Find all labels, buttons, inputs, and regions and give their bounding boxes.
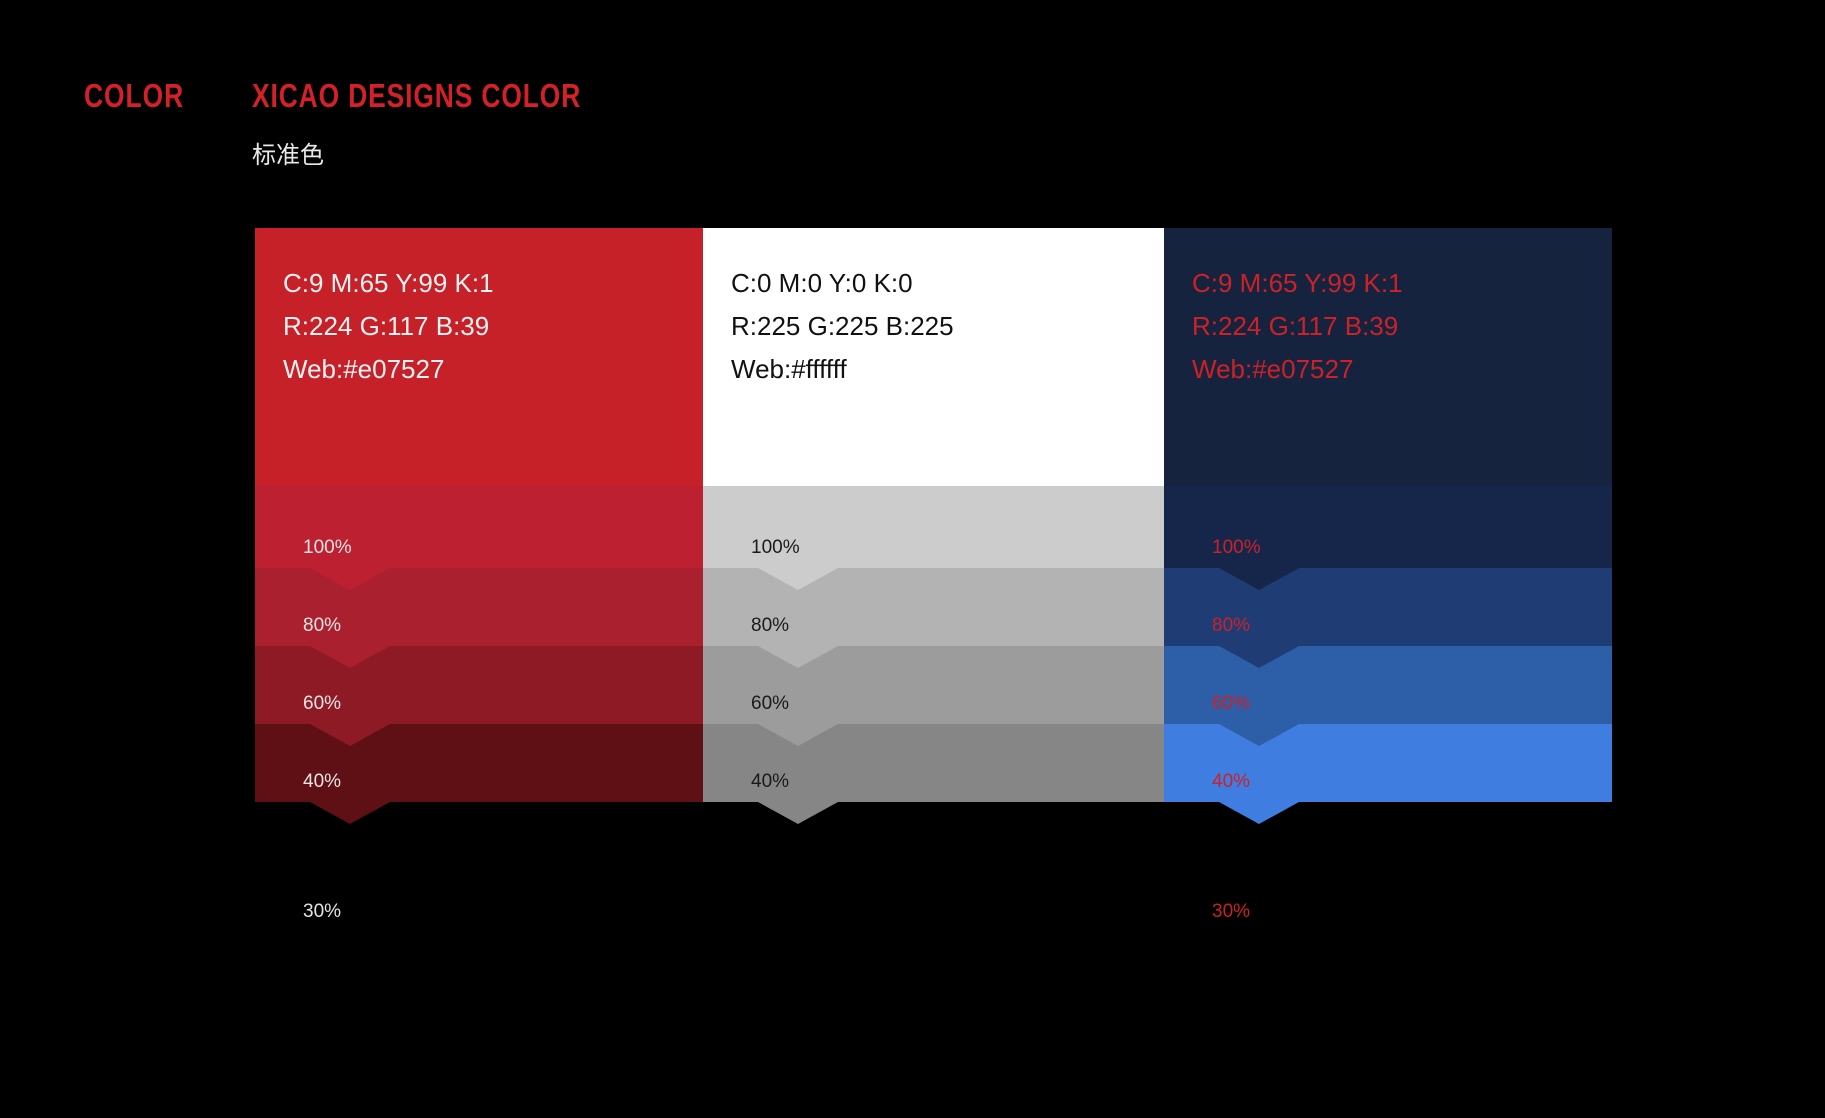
tint-label-white-80: 80% — [703, 615, 1164, 637]
tint-band-navy-40[interactable]: 40% — [1164, 720, 1612, 824]
swatch-web-white: Web:#ffffff — [731, 348, 954, 391]
swatch-rgb-red: R:224 G:117 B:39 — [283, 305, 494, 348]
swatch-web-red: Web:#e07527 — [283, 348, 494, 391]
color-column-white: C:0 M:0 Y:0 K:0R:225 G:225 B:225Web:#fff… — [703, 228, 1164, 808]
tint-label-navy-40: 40% — [1164, 771, 1612, 793]
swatch-red[interactable]: C:9 M:65 Y:99 K:1R:224 G:117 B:39Web:#e0… — [255, 228, 703, 486]
tint-label-white-60: 60% — [703, 693, 1164, 715]
swatch-rgb-white: R:225 G:225 B:225 — [731, 305, 954, 348]
swatch-cmyk-navy: C:9 M:65 Y:99 K:1 — [1192, 262, 1403, 305]
swatch-info-red: C:9 M:65 Y:99 K:1R:224 G:117 B:39Web:#e0… — [283, 262, 494, 391]
tint-label-navy-30: 30% — [1164, 901, 1612, 923]
swatch-rgb-navy: R:224 G:117 B:39 — [1192, 305, 1403, 348]
tint-band-white-40[interactable]: 40% — [703, 720, 1164, 824]
swatch-info-navy: C:9 M:65 Y:99 K:1R:224 G:117 B:39Web:#e0… — [1192, 262, 1403, 391]
swatch-cmyk-red: C:9 M:65 Y:99 K:1 — [283, 262, 494, 305]
swatch-cmyk-white: C:0 M:0 Y:0 K:0 — [731, 262, 954, 305]
header-kicker: COLOR — [84, 77, 184, 115]
tint-bands-red: 100%80%60%40%30% — [255, 486, 703, 808]
color-palette: C:9 M:65 Y:99 K:1R:224 G:117 B:39Web:#e0… — [255, 228, 1612, 808]
tint-label-white-30: 30% — [703, 901, 1164, 923]
swatch-navy[interactable]: C:9 M:65 Y:99 K:1R:224 G:117 B:39Web:#e0… — [1164, 228, 1612, 486]
page-subtitle: 标准色 — [252, 135, 324, 170]
color-column-navy: C:9 M:65 Y:99 K:1R:224 G:117 B:39Web:#e0… — [1164, 228, 1612, 808]
page-title: XICAO DESIGNS COLOR — [252, 77, 581, 115]
tint-label-red-100: 100% — [255, 537, 703, 559]
tint-label-navy-100: 100% — [1164, 537, 1612, 559]
tint-label-red-30: 30% — [255, 901, 703, 923]
tint-label-navy-80: 80% — [1164, 615, 1612, 637]
swatch-info-white: C:0 M:0 Y:0 K:0R:225 G:225 B:225Web:#fff… — [731, 262, 954, 391]
tint-label-white-100: 100% — [703, 537, 1164, 559]
slide-canvas: COLOR XICAO DESIGNS COLOR 标准色 C:9 M:65 Y… — [0, 0, 1825, 1118]
tint-label-red-80: 80% — [255, 615, 703, 637]
tint-label-red-40: 40% — [255, 771, 703, 793]
swatch-web-navy: Web:#e07527 — [1192, 348, 1403, 391]
tint-label-white-40: 40% — [703, 771, 1164, 793]
tint-label-red-60: 60% — [255, 693, 703, 715]
swatch-white[interactable]: C:0 M:0 Y:0 K:0R:225 G:225 B:225Web:#fff… — [703, 228, 1164, 486]
color-column-red: C:9 M:65 Y:99 K:1R:224 G:117 B:39Web:#e0… — [255, 228, 703, 808]
tint-bands-white: 100%80%60%40%30% — [703, 486, 1164, 808]
tint-label-navy-60: 60% — [1164, 693, 1612, 715]
tint-band-red-40[interactable]: 40% — [255, 720, 703, 824]
tint-bands-navy: 100%80%60%40%30% — [1164, 486, 1612, 808]
